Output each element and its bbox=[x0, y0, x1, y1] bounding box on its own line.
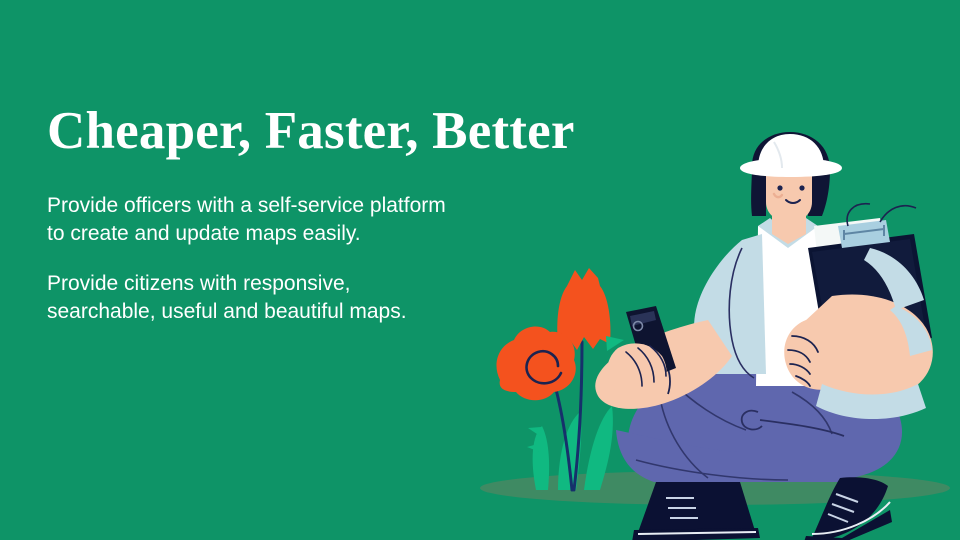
left-hand bbox=[607, 343, 666, 399]
slide-canvas: Cheaper, Faster, Better Provide officers… bbox=[0, 0, 960, 540]
rose-flower bbox=[496, 326, 575, 400]
illustration bbox=[440, 130, 960, 540]
right-hand bbox=[784, 317, 858, 390]
